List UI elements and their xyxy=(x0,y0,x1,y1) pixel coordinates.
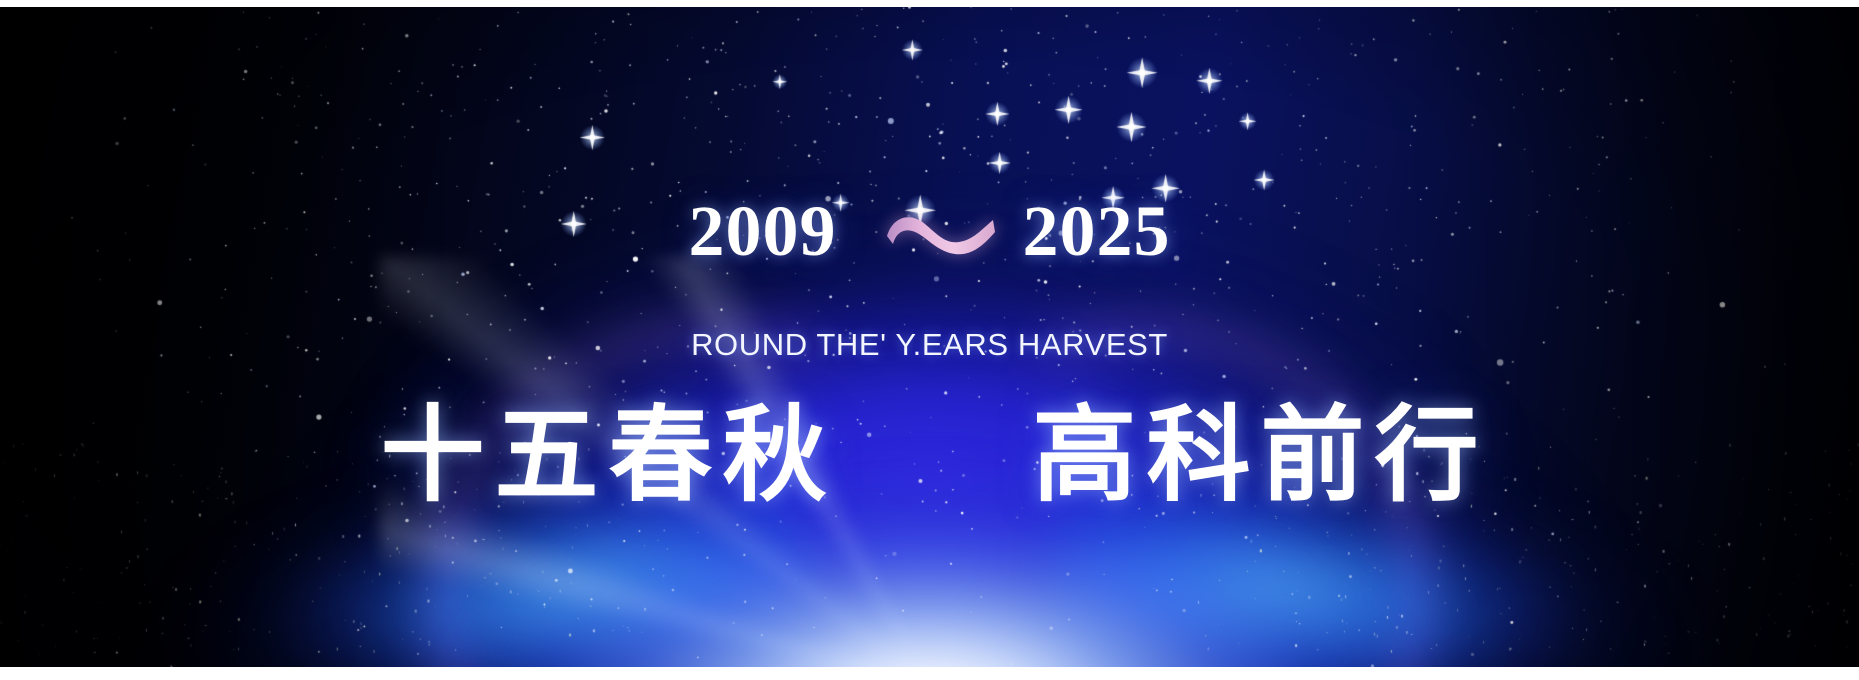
chinese-slogan-left: 十五春秋 xyxy=(370,397,836,513)
chinese-slogan: 十五春秋 高科前行 xyxy=(0,397,1859,513)
banner-content: 2009 2025 ROUND THE' Y.EARS HARVEST xyxy=(0,7,1859,667)
end-year: 2025 xyxy=(1023,195,1171,267)
start-year: 2009 xyxy=(689,195,837,267)
wave-tilde-icon xyxy=(883,206,999,262)
chinese-slogan-right: 高科前行 xyxy=(1023,397,1489,513)
year-range: 2009 2025 xyxy=(0,195,1859,267)
banner-artwork-plate: 2009 2025 ROUND THE' Y.EARS HARVEST xyxy=(0,7,1859,667)
english-subtitle: ROUND THE' Y.EARS HARVEST xyxy=(0,327,1859,363)
anniversary-banner: 2009 2025 ROUND THE' Y.EARS HARVEST xyxy=(0,0,1859,680)
